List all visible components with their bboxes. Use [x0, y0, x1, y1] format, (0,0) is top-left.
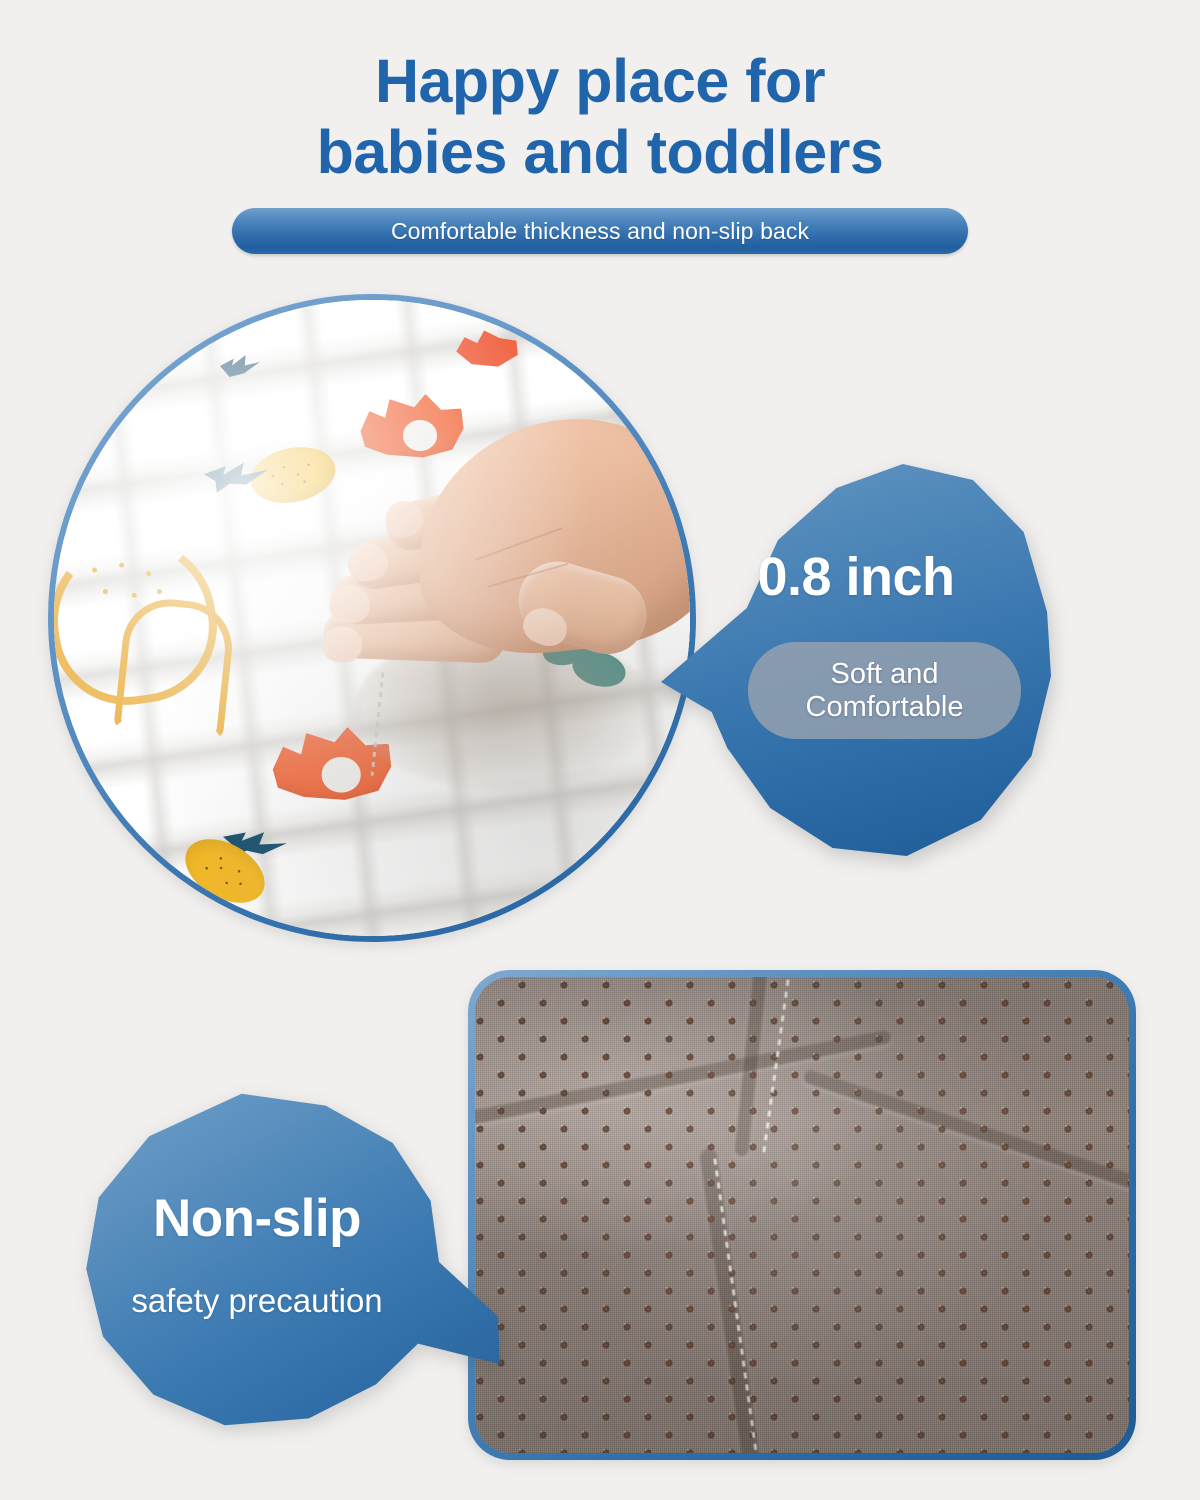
thickness-subtitle-pill: Soft and Comfortable: [748, 642, 1021, 739]
bottom-photo-shading: [475, 977, 1129, 1453]
header-section: Happy place for babies and toddlers Comf…: [0, 0, 1200, 270]
bottom-product-photo-frame: [468, 970, 1136, 1460]
thickness-callout: 0.8 inch Soft and Comfortable: [661, 460, 1051, 860]
page-title: Happy place for babies and toddlers: [0, 46, 1200, 189]
nonslip-subtitle: safety precaution: [82, 1284, 432, 1317]
thickness-subtitle-line-2: Comfortable: [806, 691, 964, 723]
thickness-subtitle-line-1: Soft and: [830, 658, 938, 690]
nonslip-callout-bubble: [82, 1092, 502, 1432]
nonslip-title: Non-slip: [82, 1192, 432, 1245]
top-photo-shading: [54, 300, 690, 936]
bottom-photo-image: [475, 977, 1129, 1453]
subtitle-banner-label: Comfortable thickness and non-slip back: [391, 220, 809, 243]
subtitle-banner: Comfortable thickness and non-slip back: [232, 208, 968, 254]
nonslip-callout: Non-slip safety precaution: [82, 1092, 502, 1432]
page-title-line-2: babies and toddlers: [0, 117, 1200, 188]
thickness-value: 0.8 inch: [661, 550, 1051, 604]
top-product-photo: [48, 294, 696, 942]
top-photo-image: [54, 300, 690, 936]
page-title-line-1: Happy place for: [0, 46, 1200, 117]
